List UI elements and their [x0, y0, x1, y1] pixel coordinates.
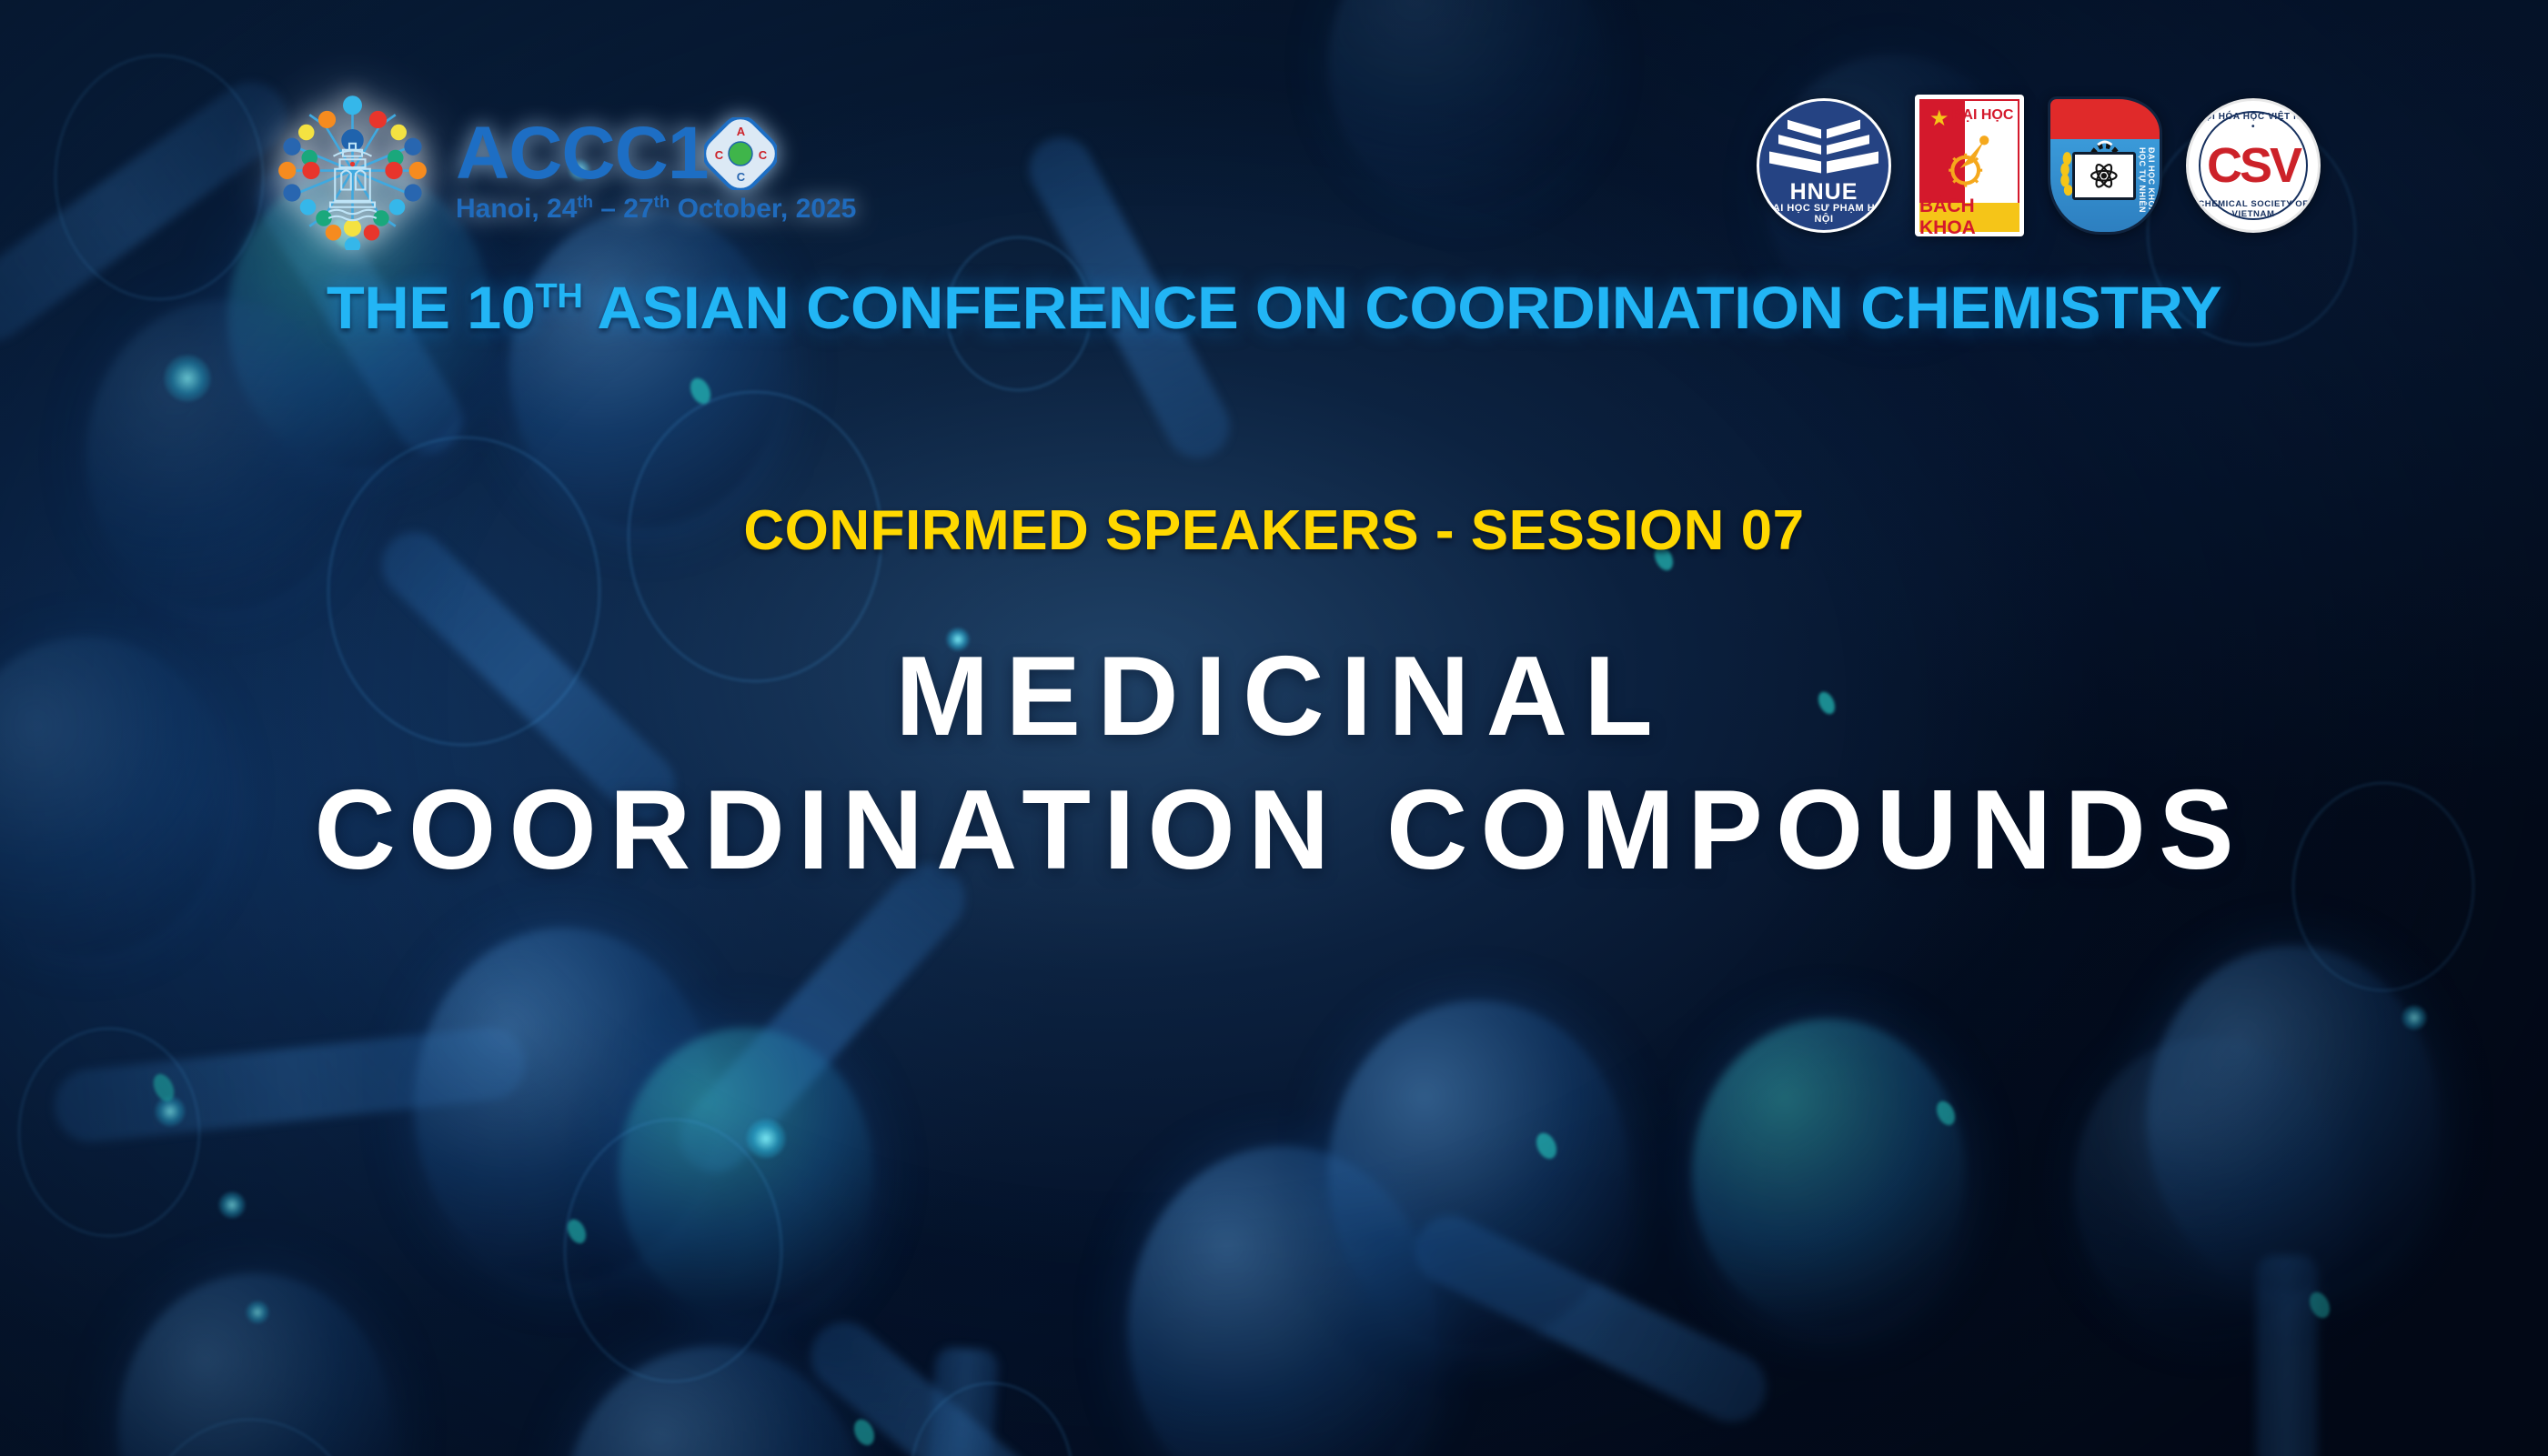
session-headline: MEDICINAL COORDINATION COMPOUNDS [0, 637, 2548, 890]
spark [746, 1119, 786, 1159]
accc10-logo: ACCC1 A C C C Hanoi, 24th – 27th October… [273, 91, 856, 250]
ring [18, 1028, 200, 1237]
book-page [1778, 135, 1821, 155]
conference-title-part1: THE 10 [327, 274, 536, 341]
date-mid: – 27 [593, 194, 654, 224]
date-sup-1: th [577, 192, 593, 211]
sponsor-logo-hnue: HNUE ĐẠI HỌC SƯ PHẠM HÀ NỘI [1757, 98, 1891, 233]
hnue-abbr: HNUE [1759, 179, 1888, 206]
date-sup-2: th [654, 192, 670, 211]
atom-icon [2075, 155, 2133, 197]
open-book-icon [2072, 152, 2136, 200]
banner-header: ACCC1 A C C C Hanoi, 24th – 27th October… [0, 84, 2548, 247]
spark [164, 355, 211, 402]
conference-banner: ACCC1 A C C C Hanoi, 24th – 27th October… [0, 0, 2548, 1456]
khtn-side-label: ĐẠI HỌC KHOA HỌC TỰ NHIÊN [2138, 147, 2156, 232]
atom [86, 300, 359, 609]
accc10-wordmark: ACCC1 A C C C Hanoi, 24th – 27th October… [456, 117, 856, 225]
sponsor-logo-csv: • HỘI HÓA HỌC VIỆT NAM • CSV CHEMICAL SO… [2186, 98, 2321, 233]
bach-khoa-label: BÁCH KHOA [1919, 196, 2019, 236]
headline-line-2: COORDINATION COMPOUNDS [0, 770, 2548, 891]
book-page [1788, 119, 1821, 138]
bach-khoa-top-label: ĐẠI HỌC [1952, 107, 2014, 124]
bach-khoa-inner: ★ ĐẠI HỌC [1919, 99, 2019, 232]
sponsor-logo-bach-khoa: ★ ĐẠI HỌC [1915, 95, 2024, 236]
spark [246, 1300, 269, 1324]
accc10-wordmark-text: ACCC1 A C C C [456, 117, 856, 190]
date-suffix: October, 2025 [670, 194, 856, 224]
accc10-molecule-turtle-tower-emblem [273, 91, 432, 250]
hnue-full-name: ĐẠI HỌC SƯ PHẠM HÀ NỘI [1759, 203, 1888, 225]
book-page [1827, 119, 1860, 138]
conference-title-part2: ASIAN CONFERENCE ON COORDINATION CHEMIST… [582, 274, 2221, 341]
csv-top-label: • HỘI HÓA HỌC VIỆT NAM • [2189, 112, 2318, 132]
book-page [1827, 135, 1869, 155]
accc10-wordmark-prefix: ACCC1 [456, 118, 708, 189]
khtn-badge: ĐẠI HỌC KHOA HỌC TỰ NHIÊN [2048, 96, 2162, 235]
sponsor-logo-row: HNUE ĐẠI HỌC SƯ PHẠM HÀ NỘI ★ ĐẠI HỌC [1757, 84, 2321, 247]
csv-bottom-label: CHEMICAL SOCIETY OF VIETNAM [2189, 199, 2318, 219]
spark [2402, 1005, 2427, 1030]
csv-monogram: CSV [2207, 141, 2300, 190]
compass-gear-icon [1941, 128, 1998, 197]
spark [218, 1191, 246, 1219]
ring [564, 1119, 782, 1382]
session-label: CONFIRMED SPEAKERS - SESSION 07 [0, 498, 2548, 563]
atom [1328, 1000, 1628, 1346]
csv-badge: • HỘI HÓA HỌC VIỆT NAM • CSV CHEMICAL SO… [2186, 98, 2321, 233]
khtn-shield: ĐẠI HỌC KHOA HỌC TỰ NHIÊN [2048, 96, 2162, 235]
bach-khoa-badge: ★ ĐẠI HỌC [1915, 95, 2024, 236]
conference-title-ordinal: TH [535, 276, 582, 316]
bach-khoa-band: BÁCH KHOA [1919, 203, 2019, 232]
star-icon: ★ [1929, 108, 1949, 130]
accc10-zero-emblem: A C C C [704, 117, 777, 190]
sponsor-logo-khtn: ĐẠI HỌC KHOA HỌC TỰ NHIÊN [2048, 96, 2162, 235]
atom [2074, 1037, 2338, 1337]
date-prefix: Hanoi, 24 [456, 194, 577, 224]
accc10-date-line: Hanoi, 24th – 27th October, 2025 [456, 192, 856, 225]
hnue-badge: HNUE ĐẠI HỌC SƯ PHẠM HÀ NỘI [1757, 98, 1891, 233]
book-page [1827, 152, 1878, 174]
conference-title: THE 10TH ASIAN CONFERENCE ON COORDINATIO… [0, 273, 2548, 342]
headline-line-1: MEDICINAL [0, 637, 2548, 758]
book-page [1769, 152, 1821, 174]
atom [1692, 1019, 1965, 1328]
